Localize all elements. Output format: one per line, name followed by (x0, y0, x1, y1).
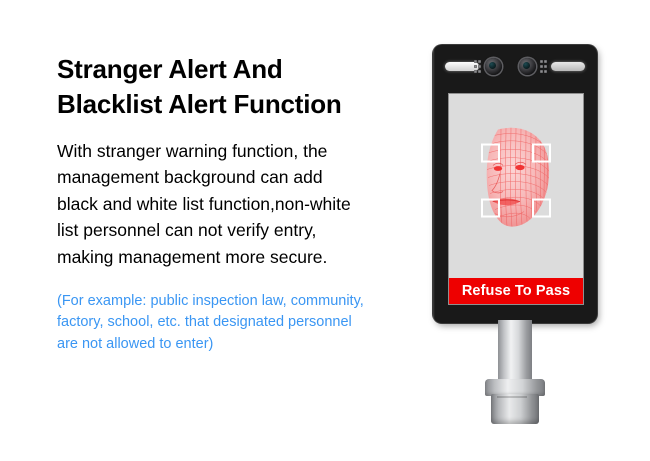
screen-viewport (449, 94, 583, 270)
led-light-bar-right (551, 62, 585, 71)
slide-canvas: Stranger Alert And Blacklist Alert Funct… (0, 0, 650, 461)
device-illustration: Refuse To Pass (415, 30, 640, 440)
note-line-2: factory, school, etc. that designated pe… (57, 312, 407, 334)
note-line-3: are not allowed to enter) (57, 334, 407, 356)
text-column: Stranger Alert And Blacklist Alert Funct… (57, 52, 407, 356)
face-recognition-terminal: Refuse To Pass (433, 45, 597, 323)
body-line-2: management background can add (57, 164, 407, 191)
body-paragraph: With stranger warning function, the mana… (57, 138, 407, 271)
body-line-4: list personnel can not verify entry, (57, 217, 407, 244)
camera-lens-left (485, 58, 502, 75)
terminal-top-bezel (433, 45, 597, 92)
face-mesh-graphic (468, 122, 564, 234)
stand-pole (498, 320, 532, 382)
sensor-array-left (473, 58, 482, 75)
note-line-1: (For example: public inspection law, com… (57, 291, 407, 313)
camera-lens-right (519, 58, 536, 75)
headline-line-2: Blacklist Alert Function (57, 87, 407, 122)
stand-base-foot (491, 394, 539, 424)
body-line-3: black and white list function,non-white (57, 191, 407, 218)
terminal-screen: Refuse To Pass (448, 93, 584, 305)
page-title: Stranger Alert And Blacklist Alert Funct… (57, 52, 407, 122)
wireframe-face-icon (468, 122, 564, 234)
example-note: (For example: public inspection law, com… (57, 291, 407, 356)
sensor-array-right (539, 58, 548, 75)
body-line-1: With stranger warning function, the (57, 138, 407, 165)
headline-line-1: Stranger Alert And (57, 52, 407, 87)
body-line-5: making management more secure. (57, 244, 407, 271)
status-badge: Refuse To Pass (449, 278, 583, 304)
